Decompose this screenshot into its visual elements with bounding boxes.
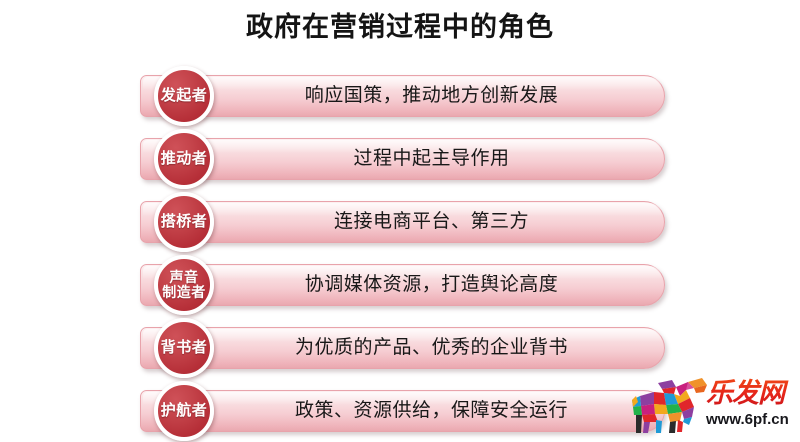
watermark: 乐发网 www.6pf.cn — [628, 374, 800, 440]
role-description: 响应国策，推动地方创新发展 — [140, 75, 665, 117]
watermark-url-text: www.6pf.cn — [706, 410, 800, 430]
role-badge-label: 推动者 — [161, 151, 208, 167]
list-item[interactable]: 协调媒体资源，打造舆论高度 声音 制造者 — [140, 264, 665, 306]
list-item[interactable]: 政策、资源供给，保障安全运行 护航者 — [140, 390, 665, 432]
role-badge-label: 背书者 — [161, 340, 208, 356]
role-badge-circle[interactable]: 搭桥者 — [154, 192, 214, 252]
list-item[interactable]: 响应国策，推动地方创新发展 发起者 — [140, 75, 665, 117]
role-description: 协调媒体资源，打造舆论高度 — [140, 264, 665, 306]
watermark-brand-text: 乐发网 — [706, 376, 800, 410]
role-badge-circle[interactable]: 发起者 — [154, 66, 214, 126]
role-description: 政策、资源供给，保障安全运行 — [140, 390, 665, 432]
role-description: 过程中起主导作用 — [140, 138, 665, 180]
role-badge-circle[interactable]: 背书者 — [154, 318, 214, 378]
role-badge-label: 搭桥者 — [161, 214, 208, 230]
role-description: 为优质的产品、优秀的企业背书 — [140, 327, 665, 369]
list-item[interactable]: 为优质的产品、优秀的企业背书 背书者 — [140, 327, 665, 369]
role-description: 连接电商平台、第三方 — [140, 201, 665, 243]
role-badge-circle[interactable]: 推动者 — [154, 129, 214, 189]
low-poly-bull-icon — [628, 376, 714, 434]
list-item[interactable]: 过程中起主导作用 推动者 — [140, 138, 665, 180]
role-badge-label: 发起者 — [161, 88, 208, 104]
role-badge-circle[interactable]: 护航者 — [154, 381, 214, 441]
slide-canvas: 政府在营销过程中的角色 响应国策，推动地方创新发展 发起者 过程中起主导作用 推… — [0, 0, 800, 442]
role-badge-label: 声音 制造者 — [162, 270, 206, 300]
list-item[interactable]: 连接电商平台、第三方 搭桥者 — [140, 201, 665, 243]
role-badge-label: 护航者 — [161, 403, 208, 419]
role-badge-circle[interactable]: 声音 制造者 — [154, 255, 214, 315]
